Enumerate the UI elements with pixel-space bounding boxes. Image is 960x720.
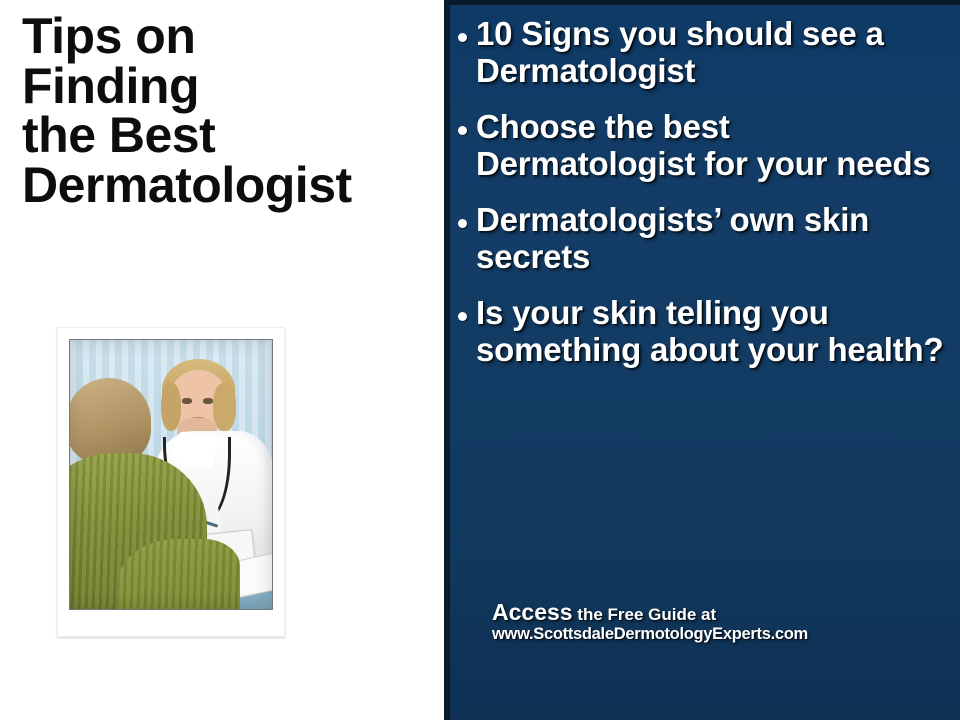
bullet-dot-icon <box>458 33 467 42</box>
cta-rest: the Free Guide at <box>573 605 717 624</box>
page-title: Tips on Finding the Best Dermatologist <box>22 12 432 210</box>
photo-vignette <box>70 340 272 609</box>
highlights-panel: 10 Signs you should see a Dermatologist … <box>444 0 960 720</box>
list-item: Dermatologists’ own skin secrets <box>458 202 954 276</box>
call-to-action: Access the Free Guide at www.ScottsdaleD… <box>492 599 808 644</box>
cta-line: Access the Free Guide at <box>492 599 808 625</box>
left-content-pane: Tips on Finding the Best Dermatologist <box>0 0 440 720</box>
bullet-dot-icon <box>458 312 467 321</box>
list-item: Choose the best Dermatologist for your n… <box>458 109 954 183</box>
cta-access-word: Access <box>492 599 573 625</box>
website-url[interactable]: www.ScottsdaleDermotologyExperts.com <box>492 625 808 644</box>
doctor-photo <box>69 339 273 610</box>
list-item: Is your skin telling you something about… <box>458 295 954 369</box>
slide-canvas: Tips on Finding the Best Dermatologist <box>0 0 960 720</box>
bullet-text: Is your skin telling you something about… <box>476 295 954 369</box>
panel-top-edge <box>450 0 960 5</box>
bullet-dot-icon <box>458 219 467 228</box>
list-item: 10 Signs you should see a Dermatologist <box>458 16 954 90</box>
doctor-photo-frame <box>57 327 285 637</box>
bullet-text: Dermatologists’ own skin secrets <box>476 202 954 276</box>
bullet-text: 10 Signs you should see a Dermatologist <box>476 16 954 90</box>
bullet-list: 10 Signs you should see a Dermatologist … <box>458 16 954 388</box>
bullet-text: Choose the best Dermatologist for your n… <box>476 109 954 183</box>
bullet-dot-icon <box>458 126 467 135</box>
